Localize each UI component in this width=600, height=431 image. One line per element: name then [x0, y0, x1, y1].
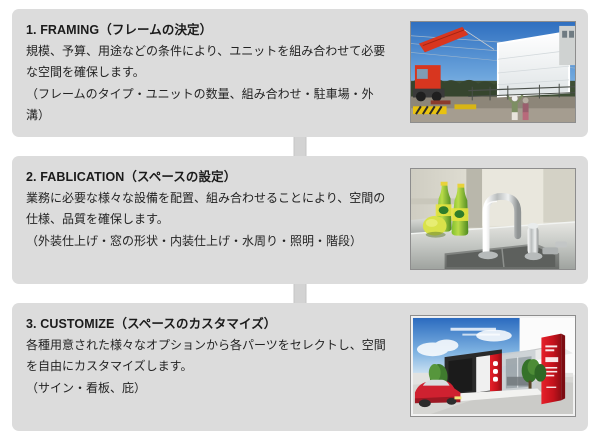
step-title: 3. CUSTOMIZE（スペースのカスタマイズ） [26, 315, 400, 333]
connector-1-to-2 [12, 137, 588, 156]
description-line: を自由にカスタマイズします。 [26, 356, 400, 377]
crane-lifting-unit-photo [410, 21, 576, 123]
step-text-block: 2. FABLICATION（スペースの設定） 業務に必要な様々な設備を配置、組… [12, 156, 408, 262]
step-title: 2. FABLICATION（スペースの設定） [26, 168, 400, 186]
description-line: （フレームのタイプ・ユニットの数量、組み合わせ・駐車場・外 [26, 84, 400, 105]
connector-bar [294, 284, 307, 303]
description-line: 規模、予算、用途などの条件により、ユニットを組み合わせて必要 [26, 41, 400, 62]
store-rendering-graphic [411, 316, 575, 416]
connector-2-to-3 [12, 284, 588, 303]
step-description: 業務に必要な様々な設備を配置、組み合わせることにより、空間の 仕様、品質を確保し… [26, 188, 400, 252]
step-description: 規模、予算、用途などの条件により、ユニットを組み合わせて必要 な空間を確保します… [26, 41, 400, 126]
description-line: 仕様、品質を確保します。 [26, 209, 400, 230]
description-line: 各種用意された様々なオプションから各パーツをセレクトし、空間 [26, 335, 400, 356]
step-text-block: 1. FRAMING（フレームの決定） 規模、予算、用途などの条件により、ユニッ… [12, 9, 408, 137]
step-description: 各種用意された様々なオプションから各パーツをセレクトし、空間 を自由にカスタマイ… [26, 335, 400, 399]
step-image-wrap [408, 156, 588, 270]
step-title: 1. FRAMING（フレームの決定） [26, 21, 400, 39]
description-line: （外装仕上げ・窓の形状・内装仕上げ・水周り・照明・階段） [26, 231, 400, 252]
step-card-framing: 1. FRAMING（フレームの決定） 規模、予算、用途などの条件により、ユニッ… [12, 9, 588, 137]
kitchen-sink-faucet-photo [410, 168, 576, 270]
crane-photo-graphic [411, 22, 575, 122]
step-image-wrap [408, 9, 588, 123]
kitchen-photo-graphic [411, 169, 575, 269]
store-exterior-rendering [410, 315, 576, 417]
step-image-wrap [408, 303, 588, 417]
process-flow-diagram: 1. FRAMING（フレームの決定） 規模、予算、用途などの条件により、ユニッ… [0, 0, 600, 431]
step-card-fablication: 2. FABLICATION（スペースの設定） 業務に必要な様々な設備を配置、組… [12, 156, 588, 284]
description-line: 溝） [26, 105, 400, 126]
description-line: 業務に必要な様々な設備を配置、組み合わせることにより、空間の [26, 188, 400, 209]
step-card-customize: 3. CUSTOMIZE（スペースのカスタマイズ） 各種用意された様々なオプショ… [12, 303, 588, 431]
description-line: （サイン・看板、庇） [26, 378, 400, 399]
step-text-block: 3. CUSTOMIZE（スペースのカスタマイズ） 各種用意された様々なオプショ… [12, 303, 408, 409]
description-line: な空間を確保します。 [26, 62, 400, 83]
connector-bar [294, 137, 307, 156]
